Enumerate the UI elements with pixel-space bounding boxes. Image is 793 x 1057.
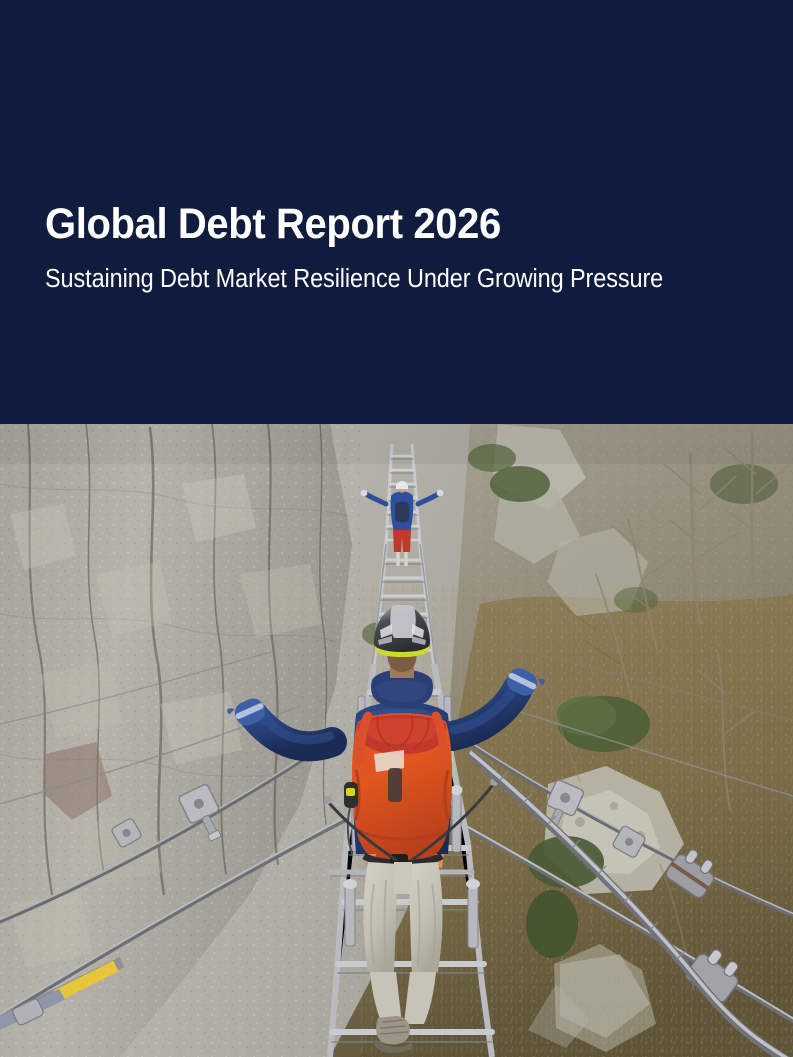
title-block: Global Debt Report 2026 Sustaining Debt … <box>45 198 745 294</box>
via-ferrata-photo-illustration <box>0 424 793 1057</box>
report-subtitle: Sustaining Debt Market Resilience Under … <box>45 264 689 294</box>
cover-photograph <box>0 424 793 1057</box>
report-title: Global Debt Report 2026 <box>45 198 696 250</box>
climber-boots <box>374 1016 412 1053</box>
report-cover: OECD Global Debt Report 2026 Sustaining … <box>0 0 793 1057</box>
